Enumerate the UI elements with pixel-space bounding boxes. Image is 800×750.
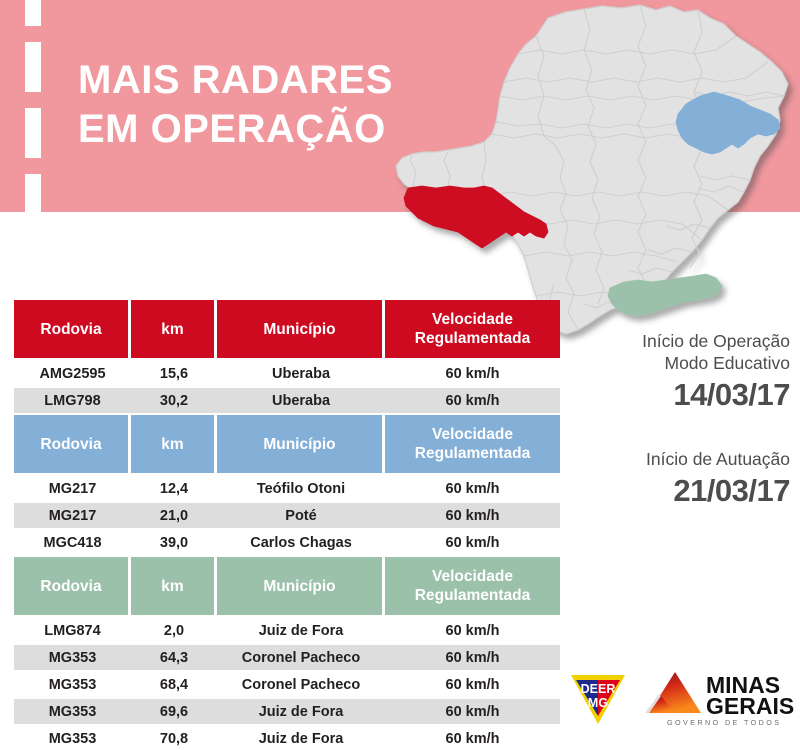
info-autuacao-label: Início de Autuação [565,448,790,470]
tabela-azul: Rodovia km Município Velocidade Regulame… [14,415,560,557]
cell-velocidade: 60 km/h [385,388,560,415]
cell-municipio: Coronel Pacheco [217,645,385,672]
deer-logo-line-2: MG [588,696,608,710]
cell-km: 15,6 [131,361,217,388]
minas-gerais-line-2: GERAIS [706,693,794,719]
table-row: MG217 12,4 Teófilo Otoni 60 km/h [14,476,560,503]
cell-velocidade: 60 km/h [385,672,560,699]
infographic-root: MAIS RADARES EM OPERAÇÃO [0,0,800,750]
cell-rodovia: LMG798 [14,388,131,415]
col-header-km: km [131,300,217,361]
tables-container: Rodovia km Município Velocidade Regulame… [14,300,560,750]
table-row: LMG874 2,0 Juiz de Fora 60 km/h [14,618,560,645]
col-header-municipio: Município [217,557,385,618]
table-row: MG353 69,6 Juiz de Fora 60 km/h [14,699,560,726]
col-header-velocidade: Velocidade Regulamentada [385,415,560,476]
cell-km: 39,0 [131,530,217,557]
velocidade-line-1: Velocidade [432,426,513,443]
info-autuacao-date: 21/03/17 [565,472,790,510]
cell-km: 70,8 [131,726,217,750]
lane-dash [25,108,41,158]
title-line-1: MAIS RADARES [78,56,393,105]
lane-dash [25,0,41,26]
cell-km: 30,2 [131,388,217,415]
cell-km: 21,0 [131,503,217,530]
cell-rodovia: LMG874 [14,618,131,645]
cell-rodovia: MG217 [14,503,131,530]
tabela-verde: Rodovia km Município Velocidade Regulame… [14,557,560,750]
cell-velocidade: 60 km/h [385,726,560,750]
info-autuacao: Início de Autuação 21/03/17 [565,448,790,510]
col-header-rodovia: Rodovia [14,415,131,476]
cell-rodovia: MGC418 [14,530,131,557]
info-operacao: Início de Operação Modo Educativo 14/03/… [565,330,790,414]
col-header-municipio: Município [217,415,385,476]
table-row: MG353 64,3 Coronel Pacheco 60 km/h [14,645,560,672]
cell-velocidade: 60 km/h [385,645,560,672]
cell-municipio: Uberaba [217,388,385,415]
table-header-row: Rodovia km Município Velocidade Regulame… [14,415,560,476]
col-header-velocidade: Velocidade Regulamentada [385,300,560,361]
cell-municipio: Teófilo Otoni [217,476,385,503]
deer-mg-logo: DEER MG [568,670,628,728]
cell-rodovia: MG217 [14,476,131,503]
tabela-vermelha: Rodovia km Município Velocidade Regulame… [14,300,560,415]
table-header-row: Rodovia km Município Velocidade Regulame… [14,557,560,618]
info-operacao-label: Início de Operação Modo Educativo [565,330,790,374]
cell-km: 64,3 [131,645,217,672]
title-line-2: EM OPERAÇÃO [78,105,393,154]
col-header-rodovia: Rodovia [14,300,131,361]
col-header-km: km [131,557,217,618]
velocidade-line-1: Velocidade [432,568,513,585]
map-region-sul-juiz-de-fora [608,274,722,316]
info-column: Início de Operação Modo Educativo 14/03/… [565,330,790,544]
table-row: LMG798 30,2 Uberaba 60 km/h [14,388,560,415]
cell-km: 2,0 [131,618,217,645]
velocidade-line-2: Regulamentada [415,445,530,462]
cell-rodovia: MG353 [14,672,131,699]
minas-gerais-tagline: GOVERNO DE TODOS [667,718,781,727]
cell-velocidade: 60 km/h [385,530,560,557]
cell-municipio: Uberaba [217,361,385,388]
velocidade-line-1: Velocidade [432,311,513,328]
velocidade-line-2: Regulamentada [415,587,530,604]
page-title: MAIS RADARES EM OPERAÇÃO [78,56,393,154]
table-row: AMG2595 15,6 Uberaba 60 km/h [14,361,560,388]
cell-rodovia: MG353 [14,645,131,672]
cell-municipio: Coronel Pacheco [217,672,385,699]
col-header-km: km [131,415,217,476]
cell-velocidade: 60 km/h [385,699,560,726]
cell-rodovia: AMG2595 [14,361,131,388]
col-header-rodovia: Rodovia [14,557,131,618]
cell-velocidade: 60 km/h [385,476,560,503]
table-header-row: Rodovia km Município Velocidade Regulame… [14,300,560,361]
lane-dash [25,174,41,218]
cell-municipio: Juiz de Fora [217,618,385,645]
lane-markings [25,0,41,212]
info-operacao-date: 14/03/17 [565,376,790,414]
cell-km: 68,4 [131,672,217,699]
cell-rodovia: MG353 [14,726,131,750]
table-row: MG217 21,0 Poté 60 km/h [14,503,560,530]
cell-km: 69,6 [131,699,217,726]
lane-dash [25,42,41,92]
cell-velocidade: 60 km/h [385,361,560,388]
table-row: MGC418 39,0 Carlos Chagas 60 km/h [14,530,560,557]
table-row: MG353 68,4 Coronel Pacheco 60 km/h [14,672,560,699]
logo-bar: DEER MG MINAS GERAIS GOVERNO DE [568,660,800,738]
cell-velocidade: 60 km/h [385,503,560,530]
col-header-municipio: Município [217,300,385,361]
cell-municipio: Juiz de Fora [217,699,385,726]
minas-gerais-logo: MINAS GERAIS GOVERNO DE TODOS [642,668,794,730]
deer-logo-line-1: DEER [581,682,616,696]
cell-municipio: Juiz de Fora [217,726,385,750]
col-header-velocidade: Velocidade Regulamentada [385,557,560,618]
cell-municipio: Carlos Chagas [217,530,385,557]
velocidade-line-2: Regulamentada [415,330,530,347]
cell-velocidade: 60 km/h [385,618,560,645]
cell-rodovia: MG353 [14,699,131,726]
table-row: MG353 70,8 Juiz de Fora 60 km/h [14,726,560,750]
cell-km: 12,4 [131,476,217,503]
cell-municipio: Poté [217,503,385,530]
